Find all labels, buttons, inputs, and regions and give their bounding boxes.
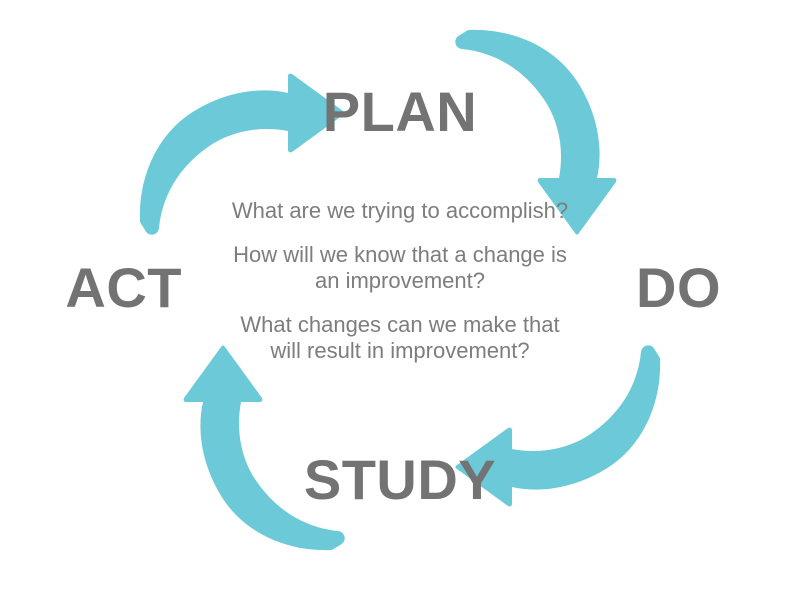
question-measure: How will we know that a change is an imp… xyxy=(150,242,650,294)
stage-label-plan: PLAN xyxy=(0,84,800,140)
pdsa-cycle-diagram: PLAN DO STUDY ACT What are we trying to … xyxy=(0,0,800,600)
improvement-questions: What are we trying to accomplish? How wi… xyxy=(150,198,650,364)
question-changes: What changes can we make that will resul… xyxy=(150,312,650,364)
stage-label-study: STUDY xyxy=(0,452,800,508)
stage-label-do: DO xyxy=(636,260,796,316)
question-accomplish: What are we trying to accomplish? xyxy=(150,198,650,224)
